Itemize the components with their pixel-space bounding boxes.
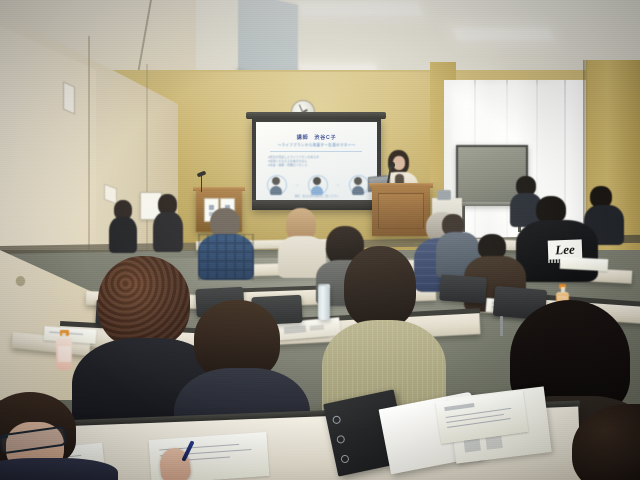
slide-title: 講師 渋谷C子	[256, 134, 377, 141]
slide-arrow-icon: →	[335, 182, 340, 188]
ceiling-light-panel	[453, 28, 554, 40]
curly-hair-texture	[98, 256, 190, 348]
slide-figure-person	[306, 176, 328, 196]
seminar-room-photo: 講師 渋谷C子 ～ライフプランから見直す一生涯のマネー～ ●家計の見直しとライフ…	[0, 0, 640, 480]
ceiling-light-panel	[298, 2, 422, 15]
projection-screen: 講師 渋谷C子 ～ライフプランから見直す一生涯のマネー～ ●家計の見直しとライフ…	[252, 118, 381, 210]
wall-sign-plate	[63, 81, 75, 114]
binder-ring-icon	[332, 415, 341, 424]
slide-figure-head	[354, 177, 362, 185]
door-knob-icon[interactable]	[16, 276, 25, 285]
slide-subtitle: ～ライフプランから見直す一生涯のマネー～	[256, 143, 377, 148]
attendee-hair	[344, 246, 416, 328]
binder-ring-icon	[340, 454, 349, 463]
cabinet-equipment	[437, 190, 451, 200]
slide-body: ●家計の見直しとライフプランの考え方 ●将来にそなえるお金のきほん ●年金・保険…	[268, 155, 364, 167]
plastic-bottle[interactable]	[56, 330, 72, 370]
slide-footer-note: 資料：本日の配布資料をご覧ください	[256, 194, 377, 198]
attendee-clothing	[153, 212, 183, 252]
microphone-stand	[201, 176, 202, 192]
chair[interactable]	[439, 274, 487, 303]
attendee-clothing	[0, 458, 118, 480]
podium	[372, 186, 430, 236]
plaid-pattern	[198, 234, 254, 280]
handout-sheet[interactable]	[560, 257, 609, 271]
screen-bottom-bar	[252, 200, 381, 210]
slide-divider	[270, 151, 362, 152]
binder-ring-icon	[336, 435, 345, 444]
slide-figure-head	[313, 177, 321, 185]
slide-figures: → →	[262, 174, 372, 196]
slide-figure-person	[265, 176, 287, 196]
lee-logo-text: Lee	[555, 243, 575, 257]
slide-figure-person	[347, 176, 369, 196]
projection-screen-surface: 講師 渋谷C子 ～ライフプランから見直す一生涯のマネー～ ●家計の見直しとライフ…	[256, 122, 377, 200]
lectern-sign-mark	[209, 205, 214, 210]
podium-microphone-icon	[391, 162, 395, 168]
chair-leg	[500, 316, 503, 336]
thermos[interactable]	[318, 286, 330, 320]
podium-front-panel	[378, 193, 424, 229]
bottle-label	[58, 346, 71, 362]
attendee-clothing	[109, 217, 137, 253]
slide-arrow-icon: →	[294, 182, 299, 188]
slide-bullet: ●年金・保険・貯蓄のバランス	[268, 163, 364, 167]
